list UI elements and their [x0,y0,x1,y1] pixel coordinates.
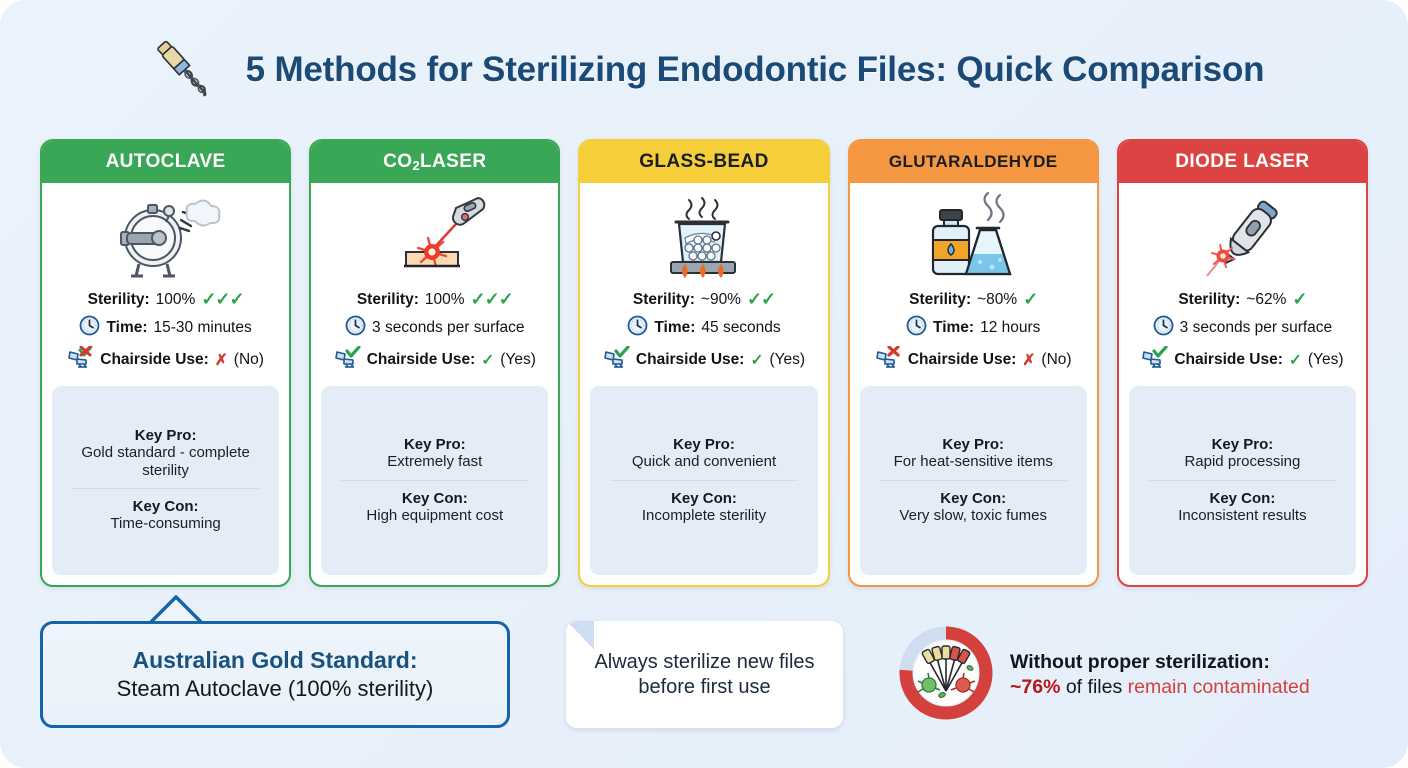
key-pro-value: Rapid processing [1135,453,1350,471]
divider [880,480,1067,481]
time-row: Time: 12 hours [856,315,1091,341]
co2-laser-handpiece-icon [311,183,558,287]
warning-line-1: Without proper sterilization: [1010,651,1310,674]
chairside-label: Chairside Use: [636,351,745,369]
sterility-value: ~62% [1246,291,1286,309]
chairside-label: Chairside Use: [100,351,209,369]
sterility-ticks: ✓ [1023,289,1037,310]
sterility-row: Sterility: ~80% ✓ [856,289,1091,310]
contaminated-files-donut-icon [898,625,994,726]
clock-icon [79,315,100,341]
method-card-glutaraldehyde[interactable]: GLUTARALDEHYDE [848,139,1099,587]
chairside-row: Chairside Use: ✓ (Yes) [317,346,552,374]
callout-pointer-arrow [148,594,204,624]
dental-chair-icon [603,346,630,374]
clock-icon [1153,315,1174,341]
card-title-subscript: 2 [412,158,420,173]
sterility-label: Sterility: [88,291,150,309]
pro-con-box: Key Pro: For heat-sensitive items Key Co… [860,386,1087,575]
card-title: GLASS-BEAD [580,141,827,183]
key-pro-label: Key Pro: [58,427,273,444]
key-con-value: Incomplete sterility [596,507,811,525]
key-con-value: Inconsistent results [1135,507,1350,525]
key-pro-label: Key Pro: [327,436,542,453]
time-label: Time: [654,319,695,337]
chairside-value: (No) [234,351,264,369]
spec-rows: Sterility: ~62% ✓ 3 seconds per surface [1119,287,1366,378]
time-value: 3 seconds per surface [372,319,525,337]
sterility-row: Sterility: ~62% ✓ [1125,289,1360,310]
clock-icon [627,315,648,341]
chairside-mark: ✓ [750,351,763,370]
pro-con-box: Key Pro: Gold standard - complete steril… [52,386,279,575]
spec-rows: Sterility: 100% ✓✓✓ 3 seconds per surfac… [311,287,558,378]
card-title-suffix: LASER [420,151,486,173]
key-con-label: Key Con: [866,490,1081,507]
pro-con-box: Key Pro: Rapid processing Key Con: Incon… [1129,386,1356,575]
clock-icon [906,315,927,341]
key-pro-label: Key Pro: [1135,436,1350,453]
warning-mid-text: of files [1060,676,1127,698]
method-card-row: AUTOCLAVE [40,139,1368,587]
warning-line-2: ~76% of files remain contaminated [1010,676,1310,699]
diode-laser-pen-icon [1119,183,1366,287]
glass-bead-sterilizer-icon [580,183,827,287]
key-con-value: Time-consuming [58,515,273,533]
sterility-label: Sterility: [1178,291,1240,309]
key-pro-label: Key Pro: [596,436,811,453]
sterility-value: ~80% [977,291,1017,309]
chairside-value: (Yes) [769,351,805,369]
time-row: 3 seconds per surface [1125,315,1360,341]
sterility-label: Sterility: [357,291,419,309]
contamination-warning: Without proper sterilization: ~76% of fi… [898,625,1368,725]
method-card-glass-bead[interactable]: GLASS-BEAD [578,139,829,587]
chairside-value: (Yes) [1308,351,1344,369]
reminder-note-card: Always sterilize new files before first … [566,621,843,728]
key-con-value: High equipment cost [327,507,542,525]
card-title: DIODE LASER [1119,141,1366,183]
time-value: 15-30 minutes [154,319,252,337]
spec-rows: Sterility: 100% ✓✓✓ Time: 15-30 minutes [42,287,289,378]
glutaraldehyde-bottle-flask-icon [850,183,1097,287]
divider [341,480,528,481]
key-pro-value: For heat-sensitive items [866,453,1081,471]
chairside-mark: ✗ [215,351,228,370]
time-row: 3 seconds per surface [317,315,552,341]
chairside-mark: ✗ [1022,351,1035,370]
header: 5 Methods for Sterilizing Endodontic Fil… [0,22,1408,118]
key-pro-label: Key Pro: [866,436,1081,453]
dental-chair-icon [334,346,361,374]
sterility-ticks: ✓✓✓ [201,289,243,310]
key-con-label: Key Con: [596,490,811,507]
sterility-row: Sterility: 100% ✓✓✓ [317,289,552,310]
warning-tail-text: remain contaminated [1128,676,1310,698]
spec-rows: Sterility: ~90% ✓✓ Time: 45 seconds [580,287,827,378]
spec-rows: Sterility: ~80% ✓ Time: 12 hours [850,287,1097,378]
note-text: Always sterilize new files before first … [588,650,821,700]
chairside-label: Chairside Use: [908,351,1017,369]
chairside-row: Chairside Use: ✓ (Yes) [586,346,821,374]
time-label: Time: [106,319,147,337]
infographic-canvas: 5 Methods for Sterilizing Endodontic Fil… [0,0,1408,768]
pro-con-box: Key Pro: Quick and convenient Key Con: I… [590,386,817,575]
chairside-value: (Yes) [500,351,536,369]
sterility-label: Sterility: [633,291,695,309]
card-title-prefix: CO [383,151,412,173]
divider [610,480,797,481]
sterility-ticks: ✓✓✓ [471,289,513,310]
chairside-mark: ✓ [481,351,494,370]
pro-con-box: Key Pro: Extremely fast Key Con: High eq… [321,386,548,575]
sterility-value: ~90% [701,291,741,309]
divider [72,488,259,489]
chairside-row: Chairside Use: ✗ (No) [48,346,283,374]
page-title: 5 Methods for Sterilizing Endodontic Fil… [246,50,1265,90]
method-card-diode-laser[interactable]: DIODE LASER [1117,139,1368,587]
chairside-label: Chairside Use: [367,351,476,369]
method-card-autoclave[interactable]: AUTOCLAVE [40,139,291,587]
sterility-label: Sterility: [909,291,971,309]
key-con-value: Very slow, toxic fumes [866,507,1081,525]
key-con-label: Key Con: [58,498,273,515]
chairside-row: Chairside Use: ✓ (Yes) [1125,346,1360,374]
dental-chair-icon [875,346,902,374]
callout-line-1: Australian Gold Standard: [133,647,418,674]
divider [1149,480,1336,481]
chairside-value: (No) [1041,351,1071,369]
method-card-co2-laser[interactable]: CO2 LASER Sterility [309,139,560,587]
card-title: GLUTARALDEHYDE [850,141,1097,183]
key-con-label: Key Con: [327,490,542,507]
warning-percent: ~76% [1010,676,1060,698]
dental-chair-icon [1141,346,1168,374]
endodontic-file-icon [144,31,222,109]
card-title: AUTOCLAVE [42,141,289,183]
sterility-row: Sterility: ~90% ✓✓ [586,289,821,310]
card-title: CO2 LASER [311,141,558,183]
sterility-ticks: ✓✓ [747,289,775,310]
time-row: Time: 15-30 minutes [48,315,283,341]
time-label: Time: [933,319,974,337]
key-pro-value: Extremely fast [327,453,542,471]
time-row: Time: 45 seconds [586,315,821,341]
warning-text-block: Without proper sterilization: ~76% of fi… [1010,651,1310,699]
chairside-row: Chairside Use: ✗ (No) [856,346,1091,374]
gold-standard-callout: Australian Gold Standard: Steam Autoclav… [40,621,510,728]
sterility-value: 100% [425,291,465,309]
sterility-value: 100% [156,291,196,309]
folded-corner-icon [566,621,594,649]
dental-chair-icon [67,346,94,374]
time-value: 12 hours [980,319,1040,337]
time-value: 3 seconds per surface [1180,319,1333,337]
time-value: 45 seconds [701,319,780,337]
autoclave-steam-icon [42,183,289,287]
callout-line-2: Steam Autoclave (100% sterility) [117,676,434,702]
key-pro-value: Quick and convenient [596,453,811,471]
sterility-row: Sterility: 100% ✓✓✓ [48,289,283,310]
clock-icon [345,315,366,341]
chairside-label: Chairside Use: [1174,351,1283,369]
chairside-mark: ✓ [1289,351,1302,370]
key-con-label: Key Con: [1135,490,1350,507]
key-pro-value: Gold standard - complete sterility [58,444,273,479]
sterility-ticks: ✓ [1292,289,1306,310]
